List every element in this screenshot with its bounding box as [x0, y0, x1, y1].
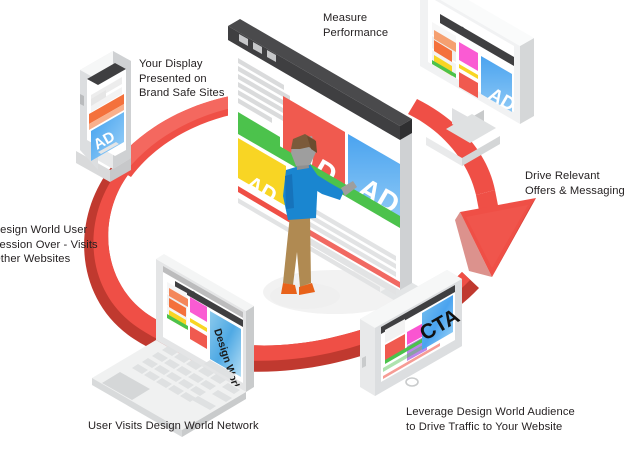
large-display-billboard: AD AD AD [228, 19, 428, 314]
label-session-over: Design World User Session Over - Visits … [0, 223, 98, 267]
arrowhead [455, 198, 536, 277]
label-measure-performance: Measure Performance [323, 11, 388, 40]
label-your-display: Your Display Presented on Brand Safe Sit… [139, 57, 225, 101]
label-user-visits: User Visits Design World Network [88, 419, 259, 434]
infographic-canvas: AD [0, 0, 634, 456]
label-drive-relevant: Drive Relevant Offers & Messaging [525, 169, 625, 198]
label-leverage-audience: Leverage Design World Audience to Drive … [406, 405, 575, 434]
smartphone: AD [76, 51, 131, 182]
